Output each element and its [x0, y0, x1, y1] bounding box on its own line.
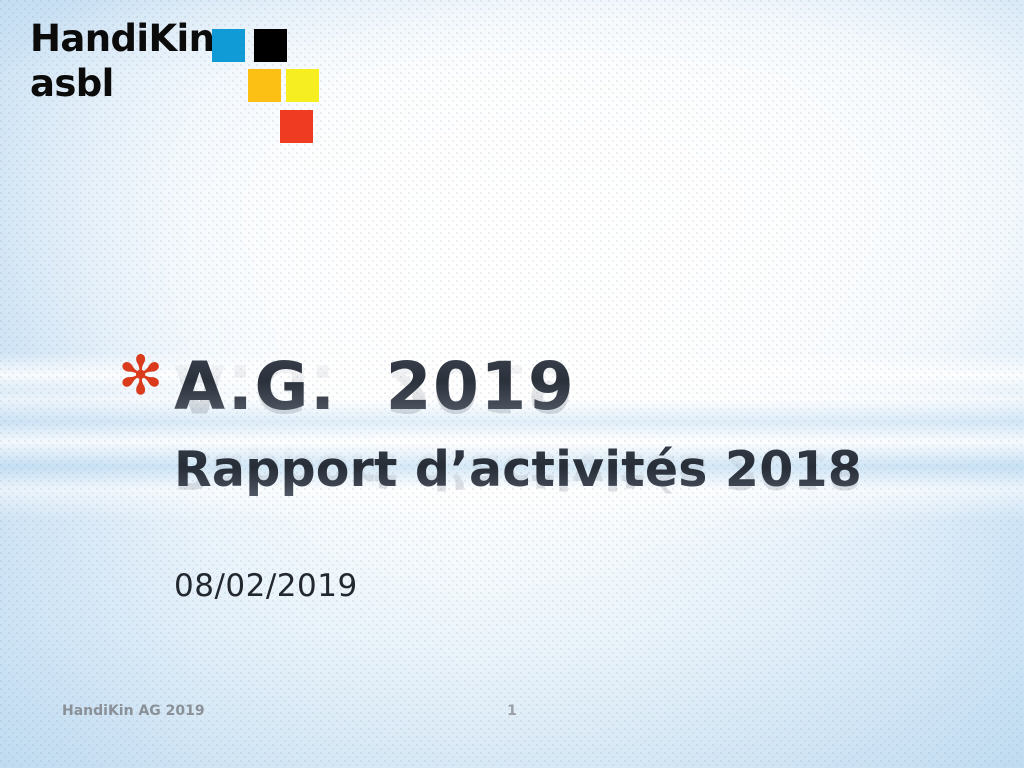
logo: HandiKinasbl: [30, 16, 330, 144]
presentation-date: 08/02/2019: [174, 568, 358, 604]
page-title: A.G. 2019: [174, 348, 575, 426]
logo-red-square: [280, 110, 313, 143]
logo-line-2: asbl: [30, 62, 114, 105]
footer-page-number: 1: [0, 702, 1024, 720]
page-subtitle: Rapport d’activités 2018: [174, 440, 862, 500]
logo-wordmark: HandiKinasbl: [30, 16, 214, 106]
logo-line-1: HandiKin: [30, 17, 214, 60]
logo-blue-square: [212, 29, 245, 62]
logo-black-square: [254, 29, 287, 62]
asterisk-bullet-icon: ✻: [118, 354, 162, 398]
slide-canvas: HandiKinasbl ✻ A.G. 2019 A.G. 2019 Rappo…: [0, 0, 1024, 768]
logo-orange-square: [248, 69, 281, 102]
logo-yellow-square: [286, 69, 319, 102]
